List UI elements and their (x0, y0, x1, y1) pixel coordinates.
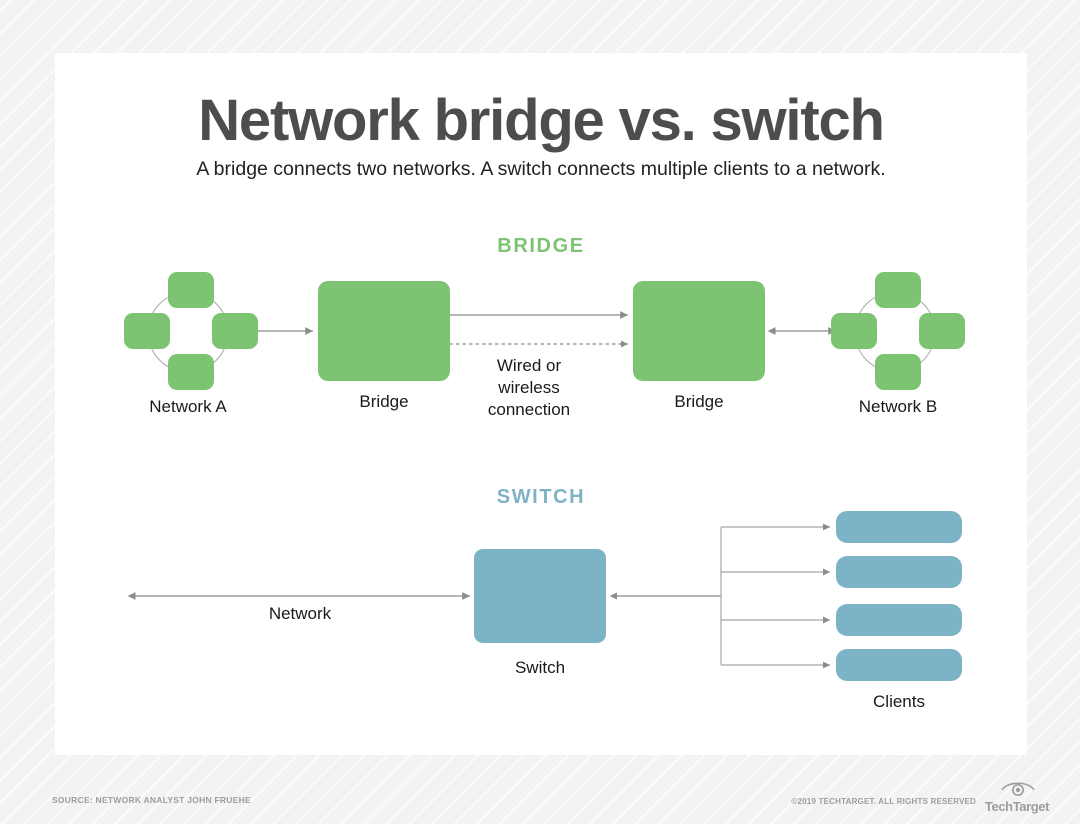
techtarget-logo-text: TechTarget (981, 799, 1053, 814)
footer-copyright: ©2019 TECHTARGET. ALL RIGHTS RESERVED (791, 797, 976, 806)
client-box (836, 511, 962, 543)
switch-label: Switch (460, 658, 620, 678)
infographic-card: Network bridge vs. switch A bridge conne… (55, 53, 1027, 755)
eye-icon (1001, 779, 1035, 797)
network-label: Network (220, 604, 380, 624)
switch-box (474, 549, 606, 643)
footer-source: SOURCE: NETWORK ANALYST JOHN FRUEHE (52, 795, 251, 805)
clients-label: Clients (819, 692, 979, 712)
client-box (836, 556, 962, 588)
client-box (836, 604, 962, 636)
techtarget-logo: TechTarget (981, 779, 1053, 817)
client-box (836, 649, 962, 681)
